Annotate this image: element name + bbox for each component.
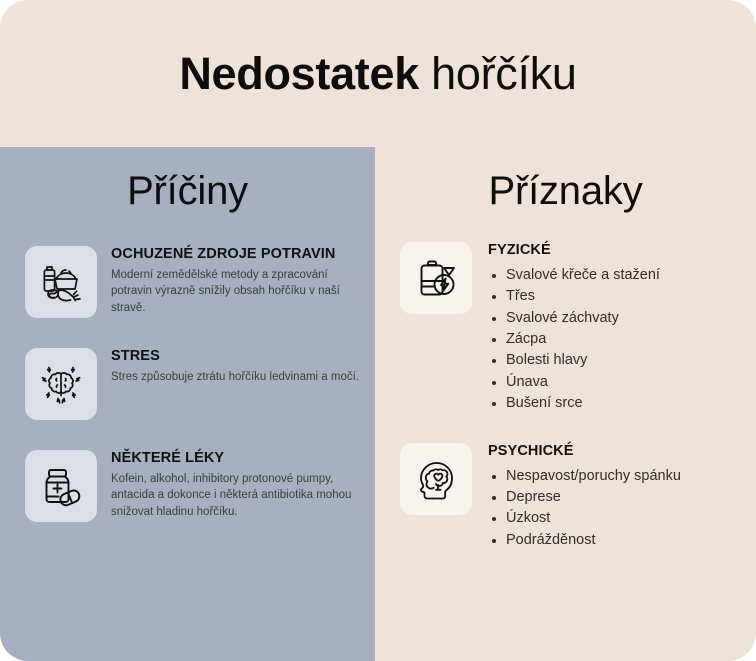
list-item: Únava	[488, 372, 660, 393]
infographic-card: Nedostatek hořčíku Příčiny	[0, 0, 756, 661]
title-bar: Nedostatek hořčíku	[0, 0, 756, 147]
title-light: hořčíku	[419, 48, 577, 99]
head-brain-heart-icon	[400, 443, 472, 515]
list-item: STRES Stres způsobuje ztrátu hořčíku led…	[0, 346, 375, 420]
item-title: STRES	[111, 348, 359, 365]
columns: Příčiny	[0, 147, 756, 661]
item-body: STRES Stres způsobuje ztrátu hořčíku led…	[97, 346, 359, 385]
list-item: PSYCHICKÉ Nespavost/poruchy spánku Depre…	[375, 441, 756, 551]
low-battery-bolt-icon	[400, 242, 472, 314]
symptoms-panel: Příznaky FYZICKÉ	[375, 147, 756, 661]
item-description: Kofein, alkohol, inhibitory protonové pu…	[111, 471, 361, 521]
list-item: Bušení srce	[488, 393, 660, 414]
group-title: PSYCHICKÉ	[488, 443, 681, 460]
item-body: FYZICKÉ Svalové křeče a stažení Třes Sva…	[472, 240, 660, 415]
item-title: OCHUZENÉ ZDROJE POTRAVIN	[111, 246, 361, 263]
item-body: OCHUZENÉ ZDROJE POTRAVIN Moderní zeměděl…	[97, 244, 361, 317]
list-item: Deprese	[488, 487, 681, 508]
list-item: OCHUZENÉ ZDROJE POTRAVIN Moderní zeměděl…	[0, 244, 375, 318]
causes-list: OCHUZENÉ ZDROJE POTRAVIN Moderní zeměděl…	[0, 214, 375, 522]
item-description: Moderní zemědělské metody a zpracování p…	[111, 267, 361, 317]
list-item: Úzkost	[488, 508, 681, 529]
symptom-items: Svalové křeče a stažení Třes Svalové zác…	[488, 265, 660, 415]
symptoms-heading: Příznaky	[375, 147, 756, 214]
causes-heading: Příčiny	[0, 147, 375, 214]
item-title: NĚKTERÉ LÉKY	[111, 450, 361, 467]
list-item: NĚKTERÉ LÉKY Kofein, alkohol, inhibitory…	[0, 448, 375, 522]
groceries-vegetables-icon	[25, 246, 97, 318]
list-item: Svalové křeče a stažení	[488, 265, 660, 286]
list-item: Svalové záchvaty	[488, 308, 660, 329]
item-description: Stres způsobuje ztrátu hořčíku ledvinami…	[111, 369, 359, 386]
medicine-bottle-pills-icon	[25, 450, 97, 522]
list-item: Zácpa	[488, 329, 660, 350]
symptoms-list: FYZICKÉ Svalové křeče a stažení Třes Sva…	[375, 214, 756, 551]
item-body: PSYCHICKÉ Nespavost/poruchy spánku Depre…	[472, 441, 681, 551]
brain-stress-icon	[25, 348, 97, 420]
causes-panel: Příčiny	[0, 147, 375, 661]
symptom-items: Nespavost/poruchy spánku Deprese Úzkost …	[488, 466, 681, 552]
list-item: Třes	[488, 286, 660, 307]
list-item: Nespavost/poruchy spánku	[488, 466, 681, 487]
list-item: FYZICKÉ Svalové křeče a stažení Třes Sva…	[375, 240, 756, 415]
list-item: Podrážděnost	[488, 530, 681, 551]
list-item: Bolesti hlavy	[488, 350, 660, 371]
title-strong: Nedostatek	[179, 48, 419, 99]
page-title: Nedostatek hořčíku	[179, 48, 576, 100]
group-title: FYZICKÉ	[488, 242, 660, 259]
item-body: NĚKTERÉ LÉKY Kofein, alkohol, inhibitory…	[97, 448, 361, 521]
